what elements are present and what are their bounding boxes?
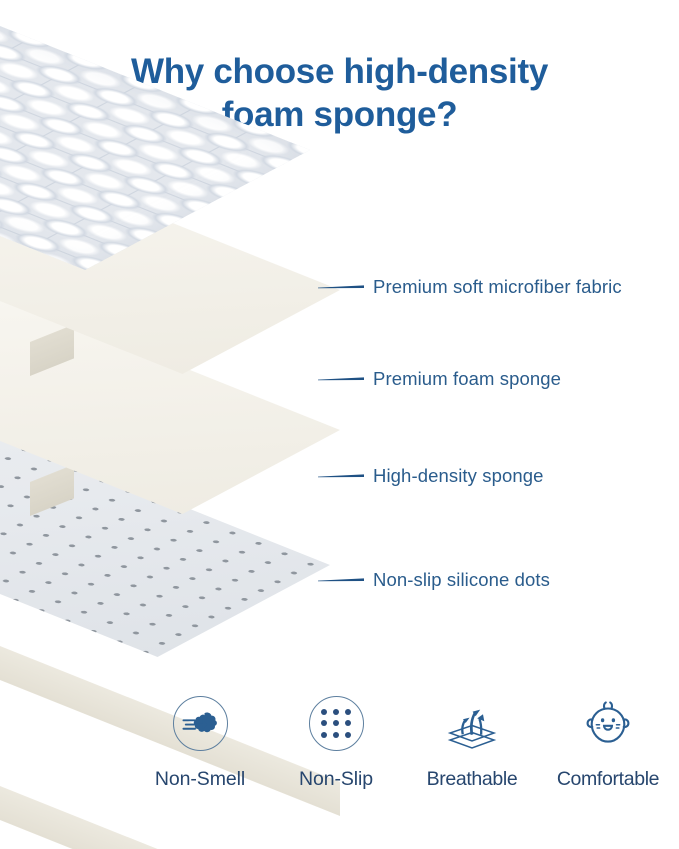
feature-breathable: Breathable (404, 696, 540, 791)
feature-non-slip: Non-Slip (268, 696, 404, 791)
feature-comfortable: Comfortable (540, 696, 676, 791)
callout-microfiber-fabric: Premium soft microfiber fabric (318, 276, 622, 298)
feature-row: Non-Smell Non-Slip (132, 696, 677, 806)
feature-label: Comfortable (557, 768, 659, 791)
leader-line (318, 575, 364, 585)
callout-premium-foam: Premium foam sponge (318, 368, 561, 390)
baby-face-icon (581, 696, 636, 751)
feature-non-smell: Non-Smell (132, 696, 268, 791)
callout-label: Premium soft microfiber fabric (373, 276, 622, 298)
dot-grid (321, 709, 351, 739)
odor-waves-icon (173, 696, 228, 751)
leader-line (318, 471, 364, 481)
fabric-puff-highlights (0, 0, 310, 270)
callout-label: High-density sponge (373, 465, 544, 487)
dot-grid-icon (309, 696, 364, 751)
callout-high-density-sponge: High-density sponge (318, 465, 544, 487)
infographic-root: Why choose high-density foam sponge? (0, 0, 679, 849)
product-layers-illustration: ➤ ➤ (0, 150, 679, 690)
title-line-1: Why choose high-density (131, 52, 548, 91)
leader-line (318, 374, 364, 384)
callout-label: Non-slip silicone dots (373, 569, 550, 591)
callout-label: Premium foam sponge (373, 368, 561, 390)
feature-label: Breathable (427, 768, 518, 791)
layer-microfiber-fabric: ➤ ➤ (0, 0, 310, 270)
airflow-layers-icon (445, 696, 500, 751)
feature-label: Non-Slip (299, 768, 373, 791)
leader-line (318, 282, 364, 292)
callout-silicone-dots: Non-slip silicone dots (318, 569, 550, 591)
feature-label: Non-Smell (155, 768, 245, 791)
